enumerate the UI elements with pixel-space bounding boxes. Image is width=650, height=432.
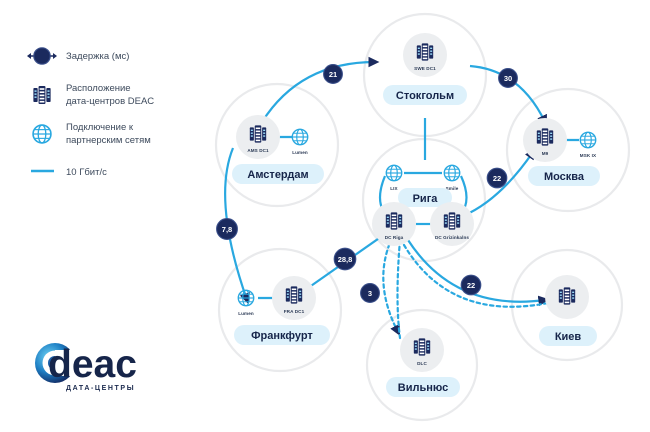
city-node-moscow[interactable]: M9 MSK IX Москва: [523, 118, 600, 186]
legend-label-datacenter-line1: Расположение: [66, 83, 131, 94]
datacenter-icon: [386, 212, 402, 229]
globe-icon: [292, 129, 307, 144]
city-node-amsterdam[interactable]: AMS DC1 Lumen Амстердам: [232, 115, 324, 184]
globe-icon: [580, 132, 595, 147]
datacenter-icon: [33, 86, 50, 104]
city-node-kiev[interactable]: Киев: [539, 275, 597, 346]
latency-badge-value: 3: [368, 289, 372, 298]
legend: Задержка (мс) Расположение дата-центров …: [27, 48, 154, 178]
latency-badge-value: 22: [493, 174, 501, 183]
latency-badge-stockholm-moscow[interactable]: 30: [499, 69, 518, 88]
legend-label-network-line2: партнерским сетям: [66, 135, 151, 146]
datacenter-icon: [414, 338, 430, 355]
city-label: Франкфурт: [251, 330, 313, 342]
ring-moscow: [507, 89, 629, 211]
datacenter-icon: [559, 287, 575, 304]
network-label: Lumen: [292, 150, 308, 155]
latency-badge-value: 28,8: [338, 255, 353, 264]
dc-label: SWE DC1: [414, 66, 436, 71]
legend-label-latency: Задержка (мс): [66, 51, 129, 62]
logo-subtitle: ДАТА-ЦЕНТРЫ: [66, 385, 135, 392]
city-label: Москва: [544, 171, 585, 183]
latency-badge-amsterdam-frankfurt[interactable]: 7,8: [217, 219, 238, 240]
legend-label-network-line1: Подключение к: [66, 122, 134, 133]
globe-icon: [33, 125, 51, 143]
city-label: Амстердам: [247, 169, 308, 181]
datacenter-icon: [286, 286, 302, 303]
link-amsterdam-stockholm: [262, 62, 375, 122]
city-node-stockholm[interactable]: SWE DC1 Стокгольм: [383, 33, 467, 105]
legend-item-partner-network: Подключение к партнерским сетям: [33, 122, 151, 146]
latency-node-icon: [27, 48, 57, 64]
globe-icon: [444, 165, 459, 180]
globe-icon: [386, 165, 401, 180]
legend-item-datacenter: Расположение дата-центров DEAC: [33, 83, 154, 107]
dc-label-riga: DC Riga: [385, 235, 404, 240]
city-node-riga[interactable]: LIX Smile Рига DC Riga DC Grizinkalns: [372, 165, 474, 246]
city-label: Киев: [555, 331, 582, 343]
datacenter-icon: [537, 128, 553, 145]
dc-label: DLC: [417, 361, 427, 366]
latency-badge-amsterdam-stockholm[interactable]: 21: [324, 65, 343, 84]
dc-label-grizinkalns: DC Grizinkalns: [435, 235, 469, 240]
dc-label: M9: [542, 151, 549, 156]
latency-badge-value: 21: [329, 70, 337, 79]
city-label: Рига: [413, 193, 439, 205]
latency-badge-riga-moscow[interactable]: 22: [487, 168, 507, 188]
datacenter-icon: [444, 212, 460, 229]
datacenter-icon: [250, 125, 266, 142]
network-label: Lumen: [238, 311, 254, 316]
legend-label-bandwidth: 10 Гбит/с: [66, 167, 107, 178]
deac-logo[interactable]: deac ДАТА-ЦЕНТРЫ: [35, 343, 137, 392]
latency-badge-riga-vilnius[interactable]: 3: [361, 284, 380, 303]
datacenter-icon: [417, 43, 433, 60]
city-node-frankfurt[interactable]: Lumen FRA DC1 Франкфурт: [234, 276, 330, 345]
link-riga-vilnius-dashed-b: [398, 240, 401, 338]
legend-item-bandwidth: 10 Гбит/с: [31, 167, 107, 178]
dc-label: FRA DC1: [284, 309, 305, 314]
city-label: Стокгольм: [396, 90, 454, 102]
legend-item-latency: Задержка (мс): [27, 48, 129, 64]
latency-badge-riga-kiev[interactable]: 22: [461, 275, 481, 295]
logo-wordmark: deac: [48, 343, 137, 386]
network-diagram-canvas: Задержка (мс) Расположение дата-центров …: [0, 0, 650, 432]
network-label-lix: LIX: [390, 186, 398, 191]
link-riga-kiev-dashed: [404, 245, 548, 307]
city-node-vilnius[interactable]: DLC Вильнюс: [386, 328, 460, 397]
dc-label: AMS DC1: [247, 148, 269, 153]
latency-badge-value: 30: [504, 74, 512, 83]
network-label: MSK IX: [580, 153, 597, 158]
legend-label-datacenter-line2: дата-центров DEAC: [66, 96, 154, 107]
globe-icon: [238, 290, 253, 305]
city-label: Вильнюс: [398, 382, 448, 394]
latency-badge-value: 7,8: [222, 225, 232, 234]
latency-badge-frankfurt-riga[interactable]: 28,8: [334, 248, 356, 270]
latency-badge-value: 22: [467, 281, 475, 290]
